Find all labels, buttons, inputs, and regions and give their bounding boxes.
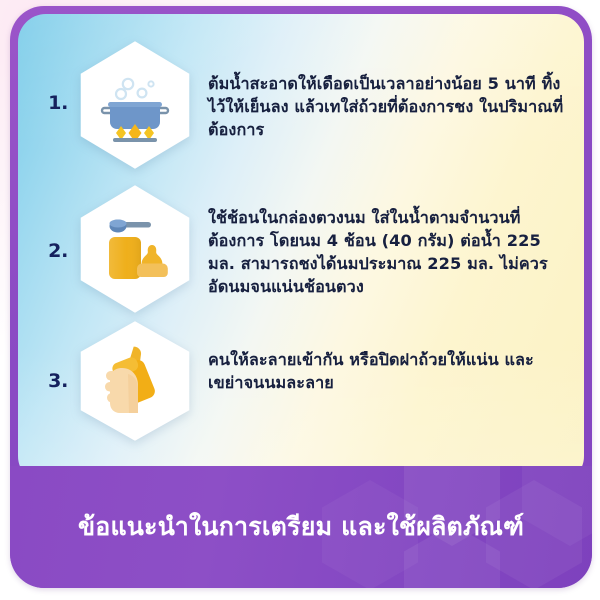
step-item-1: 1. — [18, 40, 584, 180]
step-icon-badge-1 — [76, 40, 194, 170]
step-item-3: 3. — [18, 320, 584, 450]
step-number-1: 1. — [18, 40, 76, 114]
boiling-pot-icon — [76, 40, 194, 170]
step-text-3: คนให้ละลายเข้ากัน หรือปิดฝาถ้วยให้แน่น แ… — [194, 320, 584, 394]
step-text-1: ต้มน้ำสะอาดให้เดือดเป็นเวลาอย่างน้อย 5 น… — [194, 40, 584, 141]
step-number-3: 3. — [18, 320, 76, 392]
steps-list: 1. — [18, 14, 584, 484]
poster-root: 1. — [0, 0, 600, 600]
step-icon-badge-2 — [76, 184, 194, 314]
hand-shaking-bottle-icon — [76, 320, 194, 442]
banner-title: ข้อแนะนำในการเตรียม และใช้ผลิตภัณฑ์ — [78, 507, 524, 547]
step-item-2: 2. — [18, 184, 584, 324]
decorative-hexagon — [522, 466, 592, 546]
content-panel: 1. — [18, 14, 584, 484]
step-number-2: 2. — [18, 184, 76, 262]
step-text-2: ใช้ช้อนในกล่องตวงนม ใส่ในน้ำตามจำนวนที่ต… — [194, 184, 584, 298]
bottom-banner: ข้อแนะนำในการเตรียม และใช้ผลิตภัณฑ์ — [10, 466, 592, 588]
step-description: คนให้ละลายเข้ากัน หรือปิดฝาถ้วยให้แน่น แ… — [208, 348, 566, 394]
step-description: ใช้ช้อนในกล่องตวงนม ใส่ในน้ำตามจำนวนที่ต… — [208, 206, 566, 298]
step-description: ต้มน้ำสะอาดให้เดือดเป็นเวลาอย่างน้อย 5 น… — [208, 72, 566, 141]
milk-powder-tin-scoop-icon — [76, 184, 194, 314]
step-icon-badge-3 — [76, 320, 194, 442]
purple-frame: 1. — [10, 6, 592, 588]
